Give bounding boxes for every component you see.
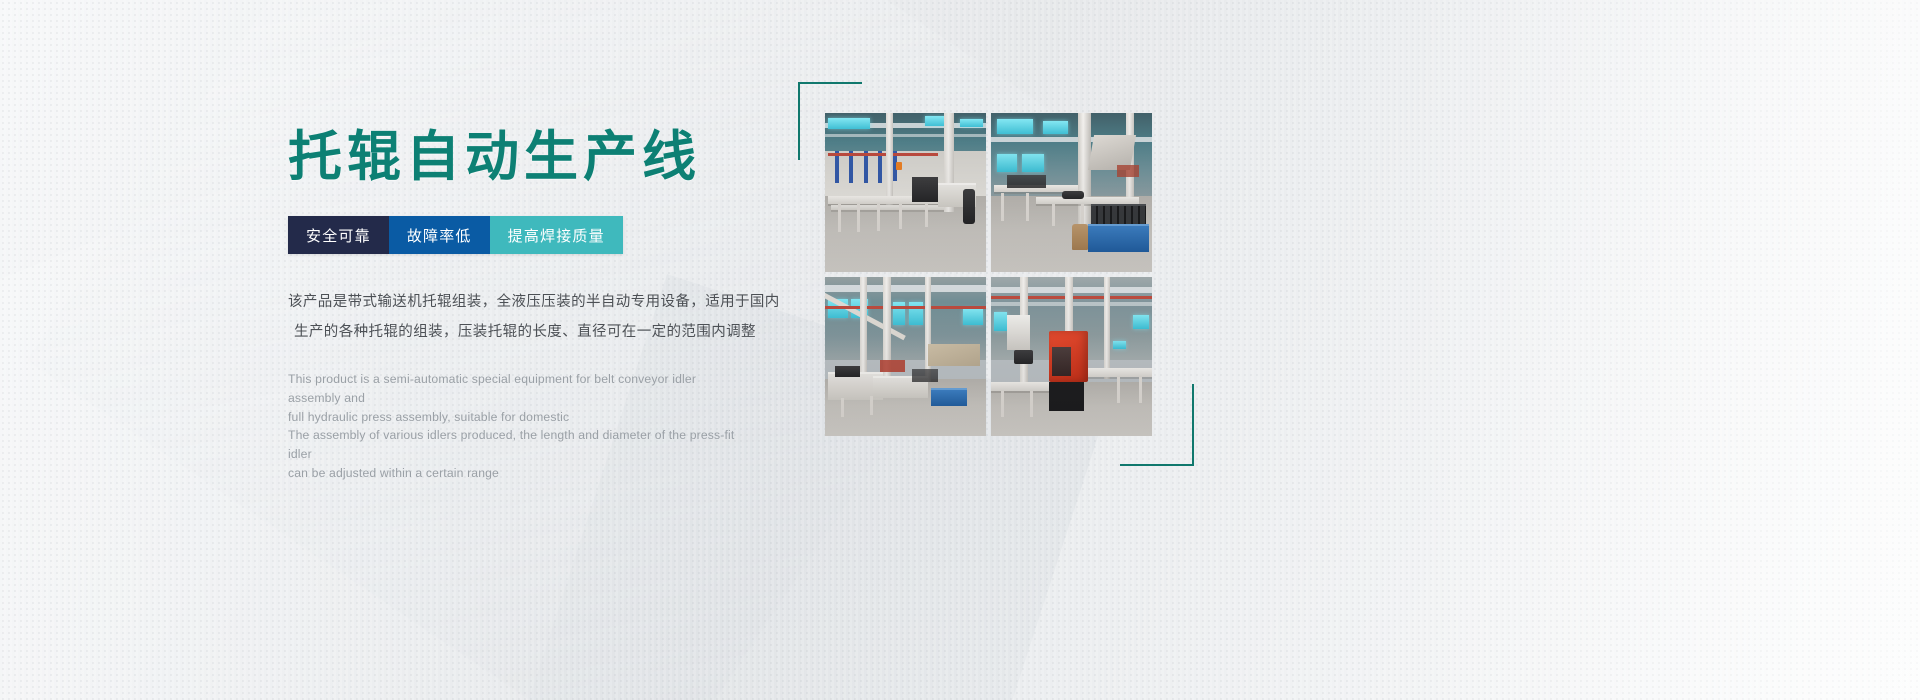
description-chinese-line-2: 生产的各种托辊的组装，压装托辊的长度、直径可在一定的范围内调整: [288, 318, 738, 348]
gallery-zone: [798, 82, 1198, 482]
description-english-p1-line-2: full hydraulic press assembly, suitable …: [288, 408, 748, 427]
badge-safe-reliable[interactable]: 安全可靠: [288, 216, 389, 254]
description-english-p2-line-2: can be adjusted within a certain range: [288, 464, 748, 483]
description-chinese-line-1: 该产品是带式输送机托辊组装，全液压压装的半自动专用设备，适用于国内: [288, 288, 738, 318]
description-chinese: 该产品是带式输送机托辊组装，全液压压装的半自动专用设备，适用于国内 生产的各种托…: [288, 288, 738, 347]
photo-grid: [825, 113, 1152, 436]
description-english-p1-line-1: This product is a semi-automatic special…: [288, 370, 748, 408]
background-right-fade: [1400, 0, 1920, 700]
description-english: This product is a semi-automatic special…: [288, 370, 748, 483]
description-english-p2-line-1: The assembly of various idlers produced,…: [288, 426, 748, 464]
badge-improved-weld-quality[interactable]: 提高焊接质量: [490, 216, 623, 254]
gallery-photo-top-left[interactable]: [825, 113, 986, 272]
gallery-photo-bottom-left[interactable]: [825, 277, 986, 436]
gallery-photo-bottom-right[interactable]: [991, 277, 1152, 436]
gallery-photo-top-right[interactable]: [991, 113, 1152, 272]
page-title: 托辊自动生产线: [288, 128, 758, 186]
banner-stage: 托辊自动生产线 安全可靠 故障率低 提高焊接质量 该产品是带式输送机托辊组装，全…: [0, 0, 1920, 700]
banner-text-column: 托辊自动生产线 安全可靠 故障率低 提高焊接质量 该产品是带式输送机托辊组装，全…: [288, 128, 758, 483]
badge-low-failure-rate[interactable]: 故障率低: [389, 216, 490, 254]
feature-badge-group: 安全可靠 故障率低 提高焊接质量: [288, 216, 623, 254]
